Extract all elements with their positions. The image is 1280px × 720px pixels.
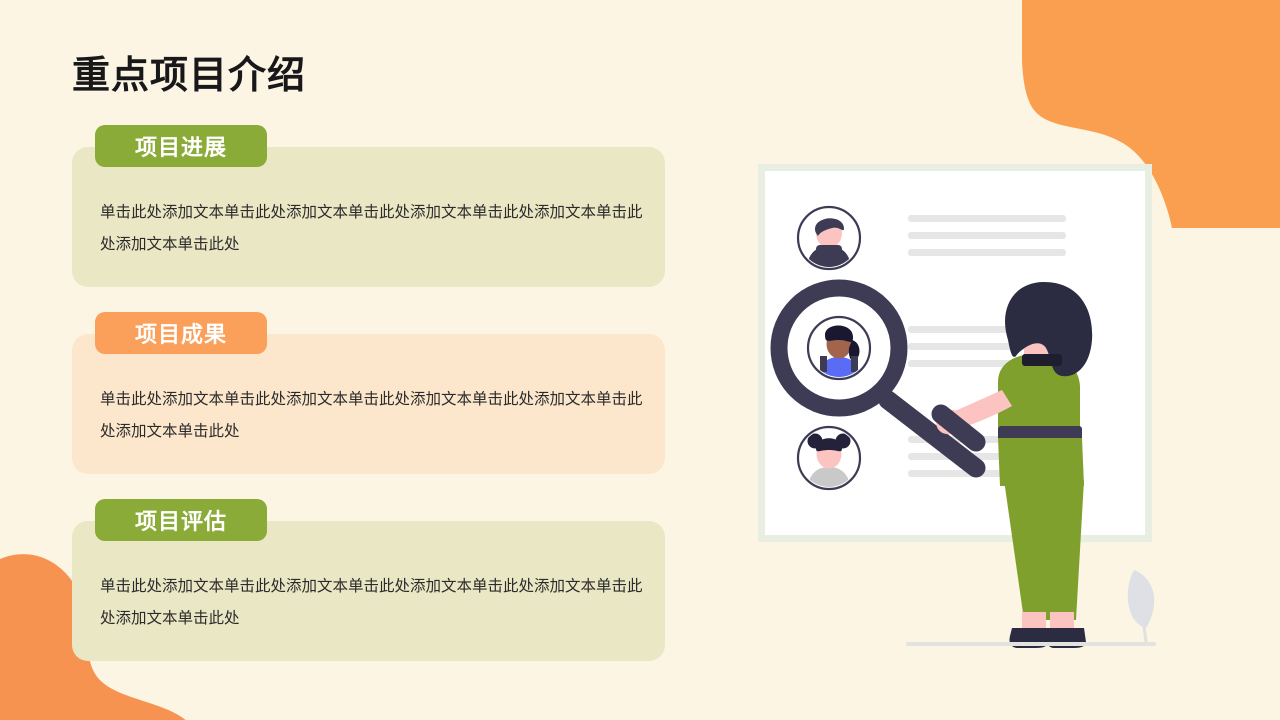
section-body-1: 单击此处添加文本单击此处添加文本单击此处添加文本单击此处添加文本单击此处添加文本… xyxy=(100,197,652,261)
slide-root: 重点项目介绍 项目进展 单击此处添加文本单击此处添加文本单击此处添加文本单击此处… xyxy=(0,0,1280,720)
illustration-person-inspecting-profiles xyxy=(736,150,1196,660)
page-title: 重点项目介绍 xyxy=(72,54,306,100)
section-body-2: 单击此处添加文本单击此处添加文本单击此处添加文本单击此处添加文本单击此处添加文本… xyxy=(100,384,652,448)
section-body-3: 单击此处添加文本单击此处添加文本单击此处添加文本单击此处添加文本单击此处添加文本… xyxy=(100,571,652,635)
section-badge-2[interactable]: 项目成果 xyxy=(95,312,267,354)
section-badge-3[interactable]: 项目评估 xyxy=(95,499,267,541)
section-badge-1[interactable]: 项目进展 xyxy=(95,125,267,167)
